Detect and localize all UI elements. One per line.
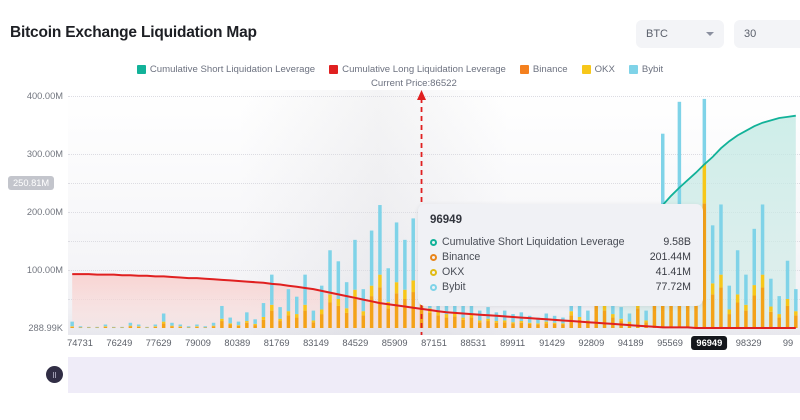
legend-label: OKX [595, 64, 615, 75]
bar-segment [395, 222, 398, 282]
tooltip-series-name: OKX [442, 265, 656, 280]
bar-segment [644, 311, 647, 321]
range-slider-handle[interactable] [46, 366, 63, 383]
legend-swatch-icon [137, 65, 146, 74]
bar-segment [287, 315, 290, 328]
y-axis-label: 100.00M [27, 265, 63, 275]
bar-segment [603, 311, 606, 328]
tooltip-series-value: 9.58B [663, 235, 691, 250]
bar-segment [137, 326, 140, 327]
bar-segment [295, 297, 298, 314]
bar-segment [278, 307, 281, 319]
bar-segment [195, 326, 198, 327]
bar-segment [536, 323, 539, 324]
bar-segment [220, 306, 223, 319]
bar-segment [170, 326, 173, 327]
range-select-value: 30 [744, 28, 800, 40]
bar-segment [561, 323, 564, 324]
x-axis-label: 84529 [342, 338, 368, 348]
drag-handle-icon [55, 372, 56, 378]
bar-segment [511, 323, 514, 328]
range-slider-track[interactable] [68, 357, 800, 393]
bar-segment [228, 325, 231, 328]
bar-segment [478, 320, 481, 322]
bar-segment [644, 320, 647, 322]
bar-segment [478, 322, 481, 328]
bar-segment [628, 314, 631, 322]
legend-label: Bybit [642, 64, 663, 75]
bar-segment [786, 261, 789, 299]
bar-segment [270, 275, 273, 305]
bar-segment [586, 311, 589, 321]
bar-segment [95, 327, 98, 328]
x-axis-label: 76249 [106, 338, 132, 348]
bar-segment [520, 321, 523, 323]
legend-item[interactable]: Cumulative Short Liquidation Leverage [137, 64, 315, 75]
bar-segment [370, 231, 373, 286]
bar-segment [179, 327, 182, 328]
tooltip-row: OKX41.41M [430, 265, 691, 280]
bar-segment [245, 321, 248, 323]
bar-segment [528, 324, 531, 328]
legend-label: Binance [533, 64, 568, 75]
bar-segment [761, 275, 764, 288]
bar-segment [270, 305, 273, 311]
legend-item[interactable]: OKX [582, 64, 615, 75]
x-axis-label: 98329 [736, 338, 762, 348]
bar-segment [503, 322, 506, 328]
bar-segment [777, 314, 780, 317]
bar-segment [495, 323, 498, 328]
bar-segment [129, 323, 132, 326]
x-axis-label: 83149 [303, 338, 329, 348]
bar-segment [703, 164, 706, 203]
bar-segment [179, 326, 182, 327]
bar-segment [528, 323, 531, 324]
tooltip-row: Bybit77.72M [430, 280, 691, 295]
x-axis-label: 94189 [618, 338, 644, 348]
bar-segment [312, 322, 315, 328]
x-axis-label: 95569 [657, 338, 683, 348]
bar-segment [162, 323, 165, 328]
tooltip-series-dot-icon [430, 269, 437, 276]
bar-segment [253, 325, 256, 328]
bar-segment [536, 325, 539, 328]
bar-segment [370, 286, 373, 296]
bar-segment [337, 299, 340, 306]
bar-segment [245, 323, 248, 328]
bar-segment [711, 225, 714, 283]
legend-swatch-icon [520, 65, 529, 74]
legend-item[interactable]: Binance [520, 64, 568, 75]
x-axis-label: 81769 [264, 338, 290, 348]
bar-segment [154, 326, 157, 327]
bar-segment [295, 318, 298, 328]
tooltip-series-dot-icon [430, 254, 437, 261]
bar-segment [154, 327, 157, 328]
x-axis-label: 74731 [67, 338, 93, 348]
bar-segment [303, 275, 306, 305]
bar-segment [411, 280, 414, 292]
bar-segment [387, 308, 390, 328]
bar-segment [95, 327, 98, 328]
bar-segment [545, 322, 548, 324]
bar-segment [312, 311, 315, 321]
bar-segment [179, 325, 182, 327]
range-select[interactable]: 30 [734, 20, 800, 48]
bar-segment [278, 321, 281, 328]
bar-segment [495, 321, 498, 323]
x-axis-label: 80389 [224, 338, 250, 348]
liquidation-map-widget: Bitcoin Exchange Liquidation Map BTC 30 … [0, 0, 800, 420]
bar-segment [112, 327, 115, 328]
x-axis-label: 79009 [185, 338, 211, 348]
bar-segment [794, 289, 797, 311]
bar-segment [303, 305, 306, 311]
y-axis-label: 400.00M [27, 91, 63, 101]
bar-segment [561, 325, 564, 328]
bar-segment [262, 317, 265, 320]
bar-segment [237, 326, 240, 328]
tooltip-series-value: 201.44M [650, 250, 691, 265]
bar-segment [461, 320, 464, 328]
bar-segment [270, 311, 273, 328]
bar-segment [628, 322, 631, 324]
bar-segment [753, 296, 756, 328]
bar-segment [303, 311, 306, 328]
bar-segment [486, 321, 489, 328]
bar-segment [736, 302, 739, 328]
bar-segment [786, 299, 789, 306]
bar-segment [703, 99, 706, 164]
bar-segment [237, 322, 240, 325]
bar-segment [104, 326, 107, 327]
bar-segment [777, 296, 780, 314]
bar-segment [719, 287, 722, 328]
legend-swatch-icon [629, 65, 638, 74]
x-axis-label: 92809 [578, 338, 604, 348]
bar-segment [769, 312, 772, 328]
bar-segment [328, 250, 331, 294]
bar-segment [761, 287, 764, 328]
bar-segment [403, 240, 406, 290]
tooltip-series-name: Binance [442, 250, 650, 265]
bar-segment [728, 314, 731, 328]
bar-segment [711, 294, 714, 328]
bar-segment [195, 327, 198, 328]
bar-segment [728, 309, 731, 314]
bar-segment [320, 309, 323, 314]
bar-segment [686, 305, 689, 328]
bar-segment [503, 320, 506, 322]
bar-segment [187, 327, 190, 328]
bar-segment [362, 315, 365, 328]
header-controls: BTC 30 [636, 20, 800, 48]
bar-segment [753, 229, 756, 285]
bar-segment [245, 312, 248, 321]
bar-segment [520, 323, 523, 328]
chart-tooltip: 96949 Cumulative Short Liquidation Lever… [418, 204, 703, 306]
bar-segment [794, 315, 797, 328]
bar-segment [70, 326, 73, 327]
bar-segment [104, 325, 107, 327]
bar-segment [212, 326, 215, 327]
bar-segment [461, 318, 464, 320]
asset-select[interactable]: BTC [636, 20, 724, 48]
bar-segment [619, 319, 622, 321]
bar-segment [711, 283, 714, 294]
bar-segment [545, 314, 548, 322]
bar-segment [395, 293, 398, 328]
bar-segment [411, 292, 414, 328]
chart-legend: Cumulative Short Liquidation LeverageCum… [0, 64, 800, 75]
bar-segment [736, 294, 739, 302]
bar-segment [611, 314, 614, 317]
current-price-annotation: Current Price:86522 [371, 78, 457, 89]
bar-segment [744, 305, 747, 311]
bar-segment [287, 289, 290, 311]
bar-segment [170, 323, 173, 326]
bar-segment [486, 319, 489, 321]
bar-segment [545, 323, 548, 328]
bar-segment [486, 307, 489, 319]
bar-segment [403, 299, 406, 328]
x-axis-label: 99 [783, 338, 793, 348]
bar-segment [769, 279, 772, 307]
y-axis-label: 288.99K [28, 323, 63, 333]
bar-segment [212, 326, 215, 328]
bar-segment [578, 317, 581, 320]
bar-segment [320, 286, 323, 310]
y-axis-label: 200.00M [27, 207, 63, 217]
bar-segment [328, 302, 331, 328]
tooltip-series-dot-icon [430, 284, 437, 291]
bar-segment [345, 313, 348, 328]
bar-segment [278, 319, 281, 321]
bar-segment [337, 306, 340, 328]
bar-segment [436, 315, 439, 328]
tooltip-series-value: 41.41M [656, 265, 691, 280]
bar-segment [719, 275, 722, 288]
bar-segment [411, 218, 414, 280]
bar-segment [362, 311, 365, 315]
y-axis-label: 300.00M [27, 149, 63, 159]
bar-segment [228, 323, 231, 324]
tooltip-series-name: Bybit [442, 280, 656, 295]
bar-segment [378, 275, 381, 288]
bar-segment [511, 322, 514, 323]
bar-segment [553, 323, 556, 324]
bar-segment [353, 299, 356, 328]
header: Bitcoin Exchange Liquidation Map BTC 30 [0, 0, 800, 58]
bar-segment [753, 285, 756, 295]
bar-segment [353, 240, 356, 290]
bar-segment [719, 204, 722, 274]
bar-segment [777, 318, 780, 328]
bar-segment [378, 287, 381, 328]
bar-segment [403, 290, 406, 299]
bar-segment [154, 325, 157, 327]
drag-handle-icon [53, 372, 54, 378]
tooltip-rows: Cumulative Short Liquidation Leverage9.5… [430, 235, 691, 295]
bar-segment [262, 303, 265, 317]
bar-segment [145, 327, 148, 328]
bar-segment [87, 327, 90, 328]
bar-segment [87, 327, 90, 328]
tooltip-series-value: 77.72M [656, 280, 691, 295]
bar-segment [570, 311, 573, 315]
bar-segment [445, 318, 448, 328]
bar-segment [295, 314, 298, 317]
bar-segment [70, 322, 73, 327]
bar-segment [553, 324, 556, 328]
bar-segment [170, 326, 173, 328]
legend-label: Cumulative Short Liquidation Leverage [150, 64, 315, 75]
bar-segment [728, 286, 731, 310]
bar-segment [387, 268, 390, 302]
bar-segment [262, 320, 265, 328]
bar-segment [220, 321, 223, 328]
bar-segment [703, 203, 706, 328]
bar-segment [769, 307, 772, 312]
tooltip-series-name: Cumulative Short Liquidation Leverage [442, 235, 663, 250]
bar-segment [137, 325, 140, 327]
bar-segment [470, 318, 473, 328]
x-axis-label: 77629 [146, 338, 172, 348]
bar-segment [428, 313, 431, 328]
x-axis-label: 87151 [421, 338, 447, 348]
bar-segment [395, 282, 398, 293]
page-title: Bitcoin Exchange Liquidation Map [10, 24, 257, 42]
bar-segment [619, 307, 622, 319]
bar-segment [79, 327, 82, 328]
asset-select-value: BTC [646, 28, 706, 40]
y-axis-highlight-badge: 250.81M [8, 176, 54, 190]
bar-segment [761, 204, 764, 274]
bar-segment [79, 326, 82, 327]
bar-segment [212, 323, 215, 326]
bar-segment [204, 326, 207, 327]
bar-segment [253, 324, 256, 325]
tooltip-title: 96949 [430, 214, 691, 226]
x-axis-label: 89911 [500, 338, 525, 348]
x-axis-label-active: 96949 [691, 336, 727, 350]
bar-segment [287, 311, 290, 315]
bar-segment [744, 275, 747, 305]
x-axis-label: 85909 [382, 338, 408, 348]
current-price-arrow-icon [417, 90, 426, 100]
bar-segment [528, 316, 531, 323]
bar-segment [112, 327, 115, 328]
bar-segment [794, 311, 797, 315]
legend-swatch-icon [582, 65, 591, 74]
bar-segment [511, 314, 514, 322]
bar-segment [195, 325, 198, 327]
bar-segment [104, 327, 107, 328]
bar-segment [253, 319, 256, 324]
bar-segment [228, 318, 231, 324]
bar-segment [220, 319, 223, 321]
legend-item[interactable]: Cumulative Long Liquidation Leverage [329, 64, 506, 75]
bar-segment [187, 326, 190, 327]
legend-item[interactable]: Bybit [629, 64, 663, 75]
bar-segment [129, 326, 132, 327]
bar-segment [744, 311, 747, 328]
tooltip-row: Cumulative Short Liquidation Leverage9.5… [430, 235, 691, 250]
bar-segment [162, 322, 165, 324]
x-axis: 7473176249776297900980389817698314984529… [68, 336, 800, 356]
bar-segment [328, 294, 331, 302]
bar-segment [120, 327, 123, 328]
x-axis-label: 91429 [539, 338, 565, 348]
bar-segment [378, 205, 381, 275]
bar-segment [453, 316, 456, 328]
bar-segment [120, 327, 123, 328]
bar-segment [70, 327, 73, 328]
x-axis-label: 88531 [460, 338, 486, 348]
bar-segment [129, 326, 132, 328]
bar-segment [786, 306, 789, 328]
bar-segment [736, 250, 739, 294]
bar-segment [145, 327, 148, 328]
chevron-down-icon [706, 32, 714, 36]
legend-swatch-icon [329, 65, 338, 74]
bar-segment [320, 314, 323, 328]
bar-segment [204, 327, 207, 328]
bar-segment [137, 327, 140, 328]
tooltip-row: Binance201.44M [430, 250, 691, 265]
legend-label: Cumulative Long Liquidation Leverage [342, 64, 506, 75]
tooltip-series-dot-icon [430, 239, 437, 246]
bar-segment [237, 325, 240, 326]
bar-segment [345, 308, 348, 313]
bar-segment [162, 314, 165, 322]
bar-segment [445, 314, 448, 317]
bar-segment [611, 318, 614, 328]
bar-segment [312, 320, 315, 322]
